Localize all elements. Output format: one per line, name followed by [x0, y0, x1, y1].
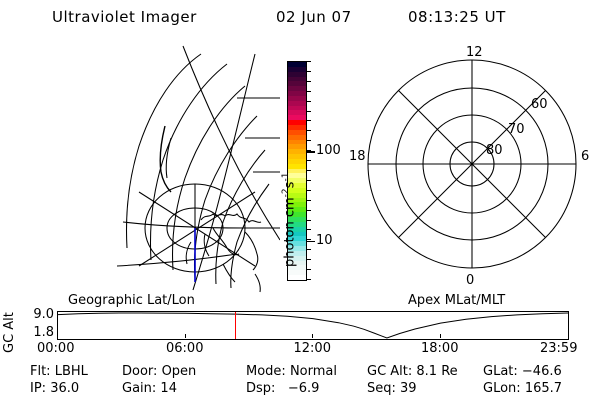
colorbar-tick: [306, 61, 311, 62]
status-glon: GLon: 165.7: [483, 381, 562, 396]
colorbar-tick: [306, 210, 311, 211]
colorbar-major-tick: [306, 151, 315, 153]
status-gain: Gain: 14: [122, 381, 177, 396]
mlt-label-18: 18: [349, 149, 366, 164]
geographic-map-graphic: [105, 42, 280, 297]
status-filter: Flt: LBHL: [30, 364, 88, 379]
status-mode: Mode: Normal: [246, 364, 337, 379]
timeseries-x-tick: [440, 334, 441, 338]
geographic-map-panel[interactable]: [105, 42, 280, 297]
timeseries-y-axis-title: GC Alt: [2, 293, 17, 353]
apex-polar-plot-panel[interactable]: 12 18 6 0 60 70 80: [345, 42, 595, 297]
instrument-title: Ultraviolet Imager: [52, 8, 197, 26]
colorbar-band: [288, 275, 306, 280]
colorbar-tick: [306, 130, 311, 131]
mlt-label-12: 12: [466, 45, 483, 60]
mlt-label-6: 6: [581, 149, 589, 164]
timeseries-x-tick-label: 00:00: [37, 341, 74, 356]
colorbar-tick: [306, 259, 311, 260]
colorbar-tick: [306, 81, 311, 82]
colorbar-tick: [306, 249, 311, 250]
colorbar-tick: [306, 160, 311, 161]
mlat-ring-label-70: 70: [508, 122, 525, 137]
colorbar-tick: [306, 269, 311, 270]
colorbar-tick: [306, 91, 311, 92]
timeseries-plot-box[interactable]: [57, 311, 569, 340]
colorbar-ticks: [306, 61, 314, 281]
status-ip: IP: 36.0: [30, 381, 79, 396]
timeseries-x-tick-label: 06:00: [166, 341, 203, 356]
timeseries-x-tick: [312, 334, 313, 338]
apex-polar-graphic: 12 18 6 0 60 70 80: [345, 42, 595, 297]
timeseries-curve: [58, 312, 568, 339]
status-dsp: Dsp: −6.9: [246, 381, 319, 396]
status-seq: Seq: 39: [367, 381, 417, 396]
colorbar-tick: [306, 170, 311, 171]
colorbar-tick: [306, 120, 311, 121]
colorbar-major-tick: [306, 241, 315, 243]
colorbar-unit-mid: s: [282, 182, 297, 189]
mlat-ring-label-60: 60: [531, 97, 548, 112]
timeseries-x-tick: [185, 334, 186, 338]
status-readout: Flt: LBHL IP: 36.0 Door: Open Gain: 14 M…: [0, 364, 600, 398]
colorbar-tick: [306, 140, 311, 141]
colorbar-axis-title: photon cm-2s-1: [281, 67, 297, 267]
colorbar-tick-label: 100: [316, 144, 341, 157]
status-door: Door: Open: [122, 364, 196, 379]
colorbar-unit-exp2: -1: [281, 173, 291, 182]
colorbar-tick: [306, 279, 311, 280]
colorbar-tick: [306, 111, 311, 112]
header-bar: Ultraviolet Imager 02 Jun 07 08:13:25 UT: [0, 8, 600, 32]
colorbar-unit-exp1: -2: [281, 188, 291, 197]
colorbar-tick: [306, 229, 311, 230]
observation-time: 08:13:25 UT: [408, 8, 506, 26]
timeseries-x-tick-label: 18:00: [421, 341, 458, 356]
colorbar-tick: [306, 200, 311, 201]
colorbar-tick: [306, 101, 311, 102]
timeseries-x-tick-label: 12:00: [294, 341, 331, 356]
colorbar-tick: [306, 190, 311, 191]
colorbar-tick: [306, 220, 311, 221]
observation-date: 02 Jun 07: [276, 8, 352, 26]
colorbar-tick: [306, 180, 311, 181]
mlt-label-0: 0: [466, 273, 474, 288]
timeseries-x-tick-label: 23:59: [540, 341, 577, 356]
status-glat: GLat: −46.6: [483, 364, 562, 379]
current-time-marker: [235, 312, 236, 339]
colorbar-tick-label: 10: [316, 234, 333, 247]
colorbar-unit-main: photon cm: [282, 197, 297, 267]
altitude-timeseries-panel[interactable]: Geographic Lat/Lon Apex MLat/MLT GC Alt …: [0, 295, 600, 357]
polar-panel-title: Apex MLat/MLT: [408, 293, 505, 308]
colorbar-tick: [306, 71, 311, 72]
status-gcalt: GC Alt: 8.1 Re: [367, 364, 458, 379]
mlat-ring-label-80: 80: [486, 143, 503, 158]
map-panel-title: Geographic Lat/Lon: [68, 293, 195, 308]
